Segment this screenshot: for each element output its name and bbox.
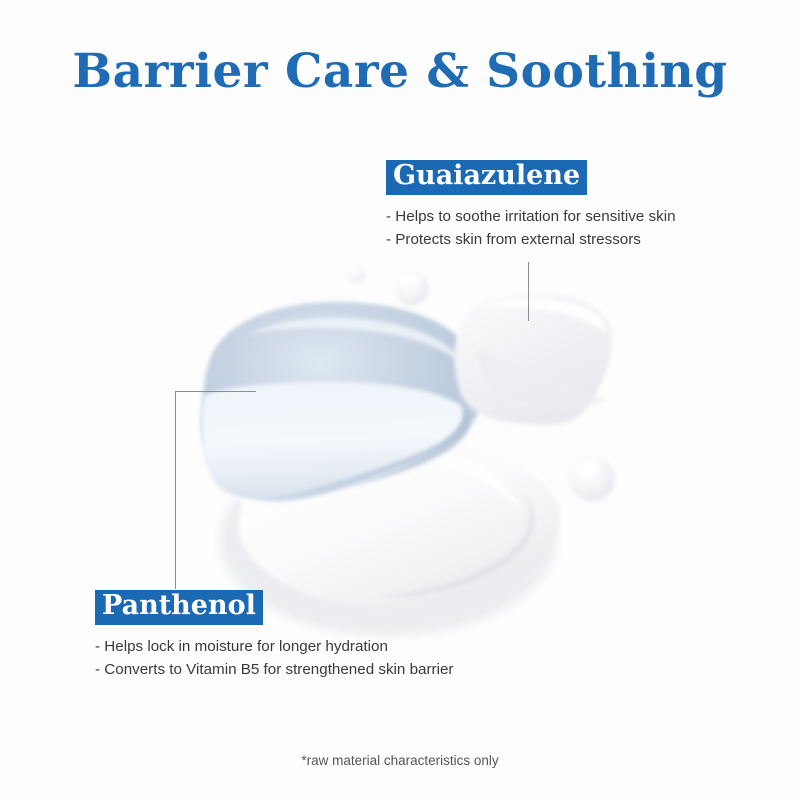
leader-line-guaiazulene — [528, 262, 529, 321]
droplet-small — [347, 265, 365, 283]
benefit-line: - Protects skin from external stressors — [386, 228, 676, 251]
droplet-medium-highlight — [398, 275, 418, 285]
ingredient-name-guaiazulene: Guaiazulene — [386, 160, 587, 195]
texture-artwork — [150, 240, 650, 640]
callout-panthenol: Panthenol - Helps lock in moisture for l… — [95, 590, 453, 681]
benefit-line: - Helps to soothe irritation for sensiti… — [386, 205, 676, 228]
footnote: *raw material characteristics only — [0, 753, 800, 768]
droplet-large-highlight — [574, 462, 600, 474]
callout-guaiazulene: Guaiazulene - Helps to soothe irritation… — [386, 160, 676, 251]
benefit-line: - Helps lock in moisture for longer hydr… — [95, 635, 453, 658]
benefit-line: - Converts to Vitamin B5 for strengthene… — [95, 658, 453, 681]
ingredient-name-panthenol: Panthenol — [95, 590, 263, 625]
page-title: Barrier Care & Soothing — [0, 44, 800, 99]
leader-line-panthenol-horizontal — [175, 391, 256, 392]
ingredient-benefits-panthenol: - Helps lock in moisture for longer hydr… — [95, 635, 453, 681]
poster-canvas: Barrier Care & Soothing — [0, 0, 800, 800]
ingredient-benefits-guaiazulene: - Helps to soothe irritation for sensiti… — [386, 205, 676, 251]
leader-line-panthenol-vertical — [175, 391, 176, 589]
droplet-large — [569, 455, 615, 501]
